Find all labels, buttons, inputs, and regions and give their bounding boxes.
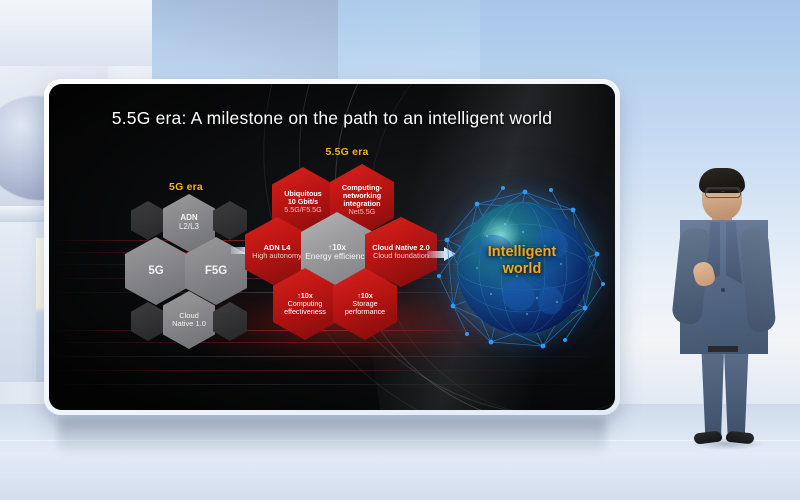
presenter-jacket-button [721,288,725,292]
hex-line-2: High autonomy [252,252,302,260]
hex-line-2: Energy efficiency [305,252,369,261]
presenter-leg-right [724,350,750,436]
presenter-glasses-icon [705,187,741,198]
wall-column-left [0,222,36,382]
hex-line-1: 5G [148,265,163,277]
hex-line-2: Cloud foundation [373,252,429,260]
presenter-leg-left [700,350,724,436]
globe-label-line-2: world [433,261,611,278]
era-label-55g: 5.5G era [287,146,407,158]
hex-line-3: 5.5G/F5.5G [284,206,322,214]
globe-label: Intelligent world [433,244,611,278]
hex-line-4: Net5.5G [349,208,376,216]
hex-line-1: F5G [205,265,227,277]
hex-line-2: Native 1.0 [172,320,206,328]
wall-panel-top [0,0,152,66]
presenter-belt [708,346,738,352]
presenter [664,168,788,448]
hex-line-3: effectiveness [284,308,326,316]
slide-title: 5.5G era: A milestone on the path to an … [49,108,615,129]
globe-label-line-1: Intelligent [433,244,611,261]
hex-line-2: L2/L3 [179,223,199,232]
presentation-slide: 5.5G era: A milestone on the path to an … [49,84,615,410]
presentation-stage: 5.5G era: A milestone on the path to an … [0,0,800,500]
screen-floor-reflection [58,418,606,458]
hex-line-3: performance [345,308,385,316]
intelligent-world-globe: Intelligent world [433,184,611,364]
presentation-screen-frame: 5.5G era: A milestone on the path to an … [44,79,620,415]
era-label-5g: 5G era [141,181,231,193]
